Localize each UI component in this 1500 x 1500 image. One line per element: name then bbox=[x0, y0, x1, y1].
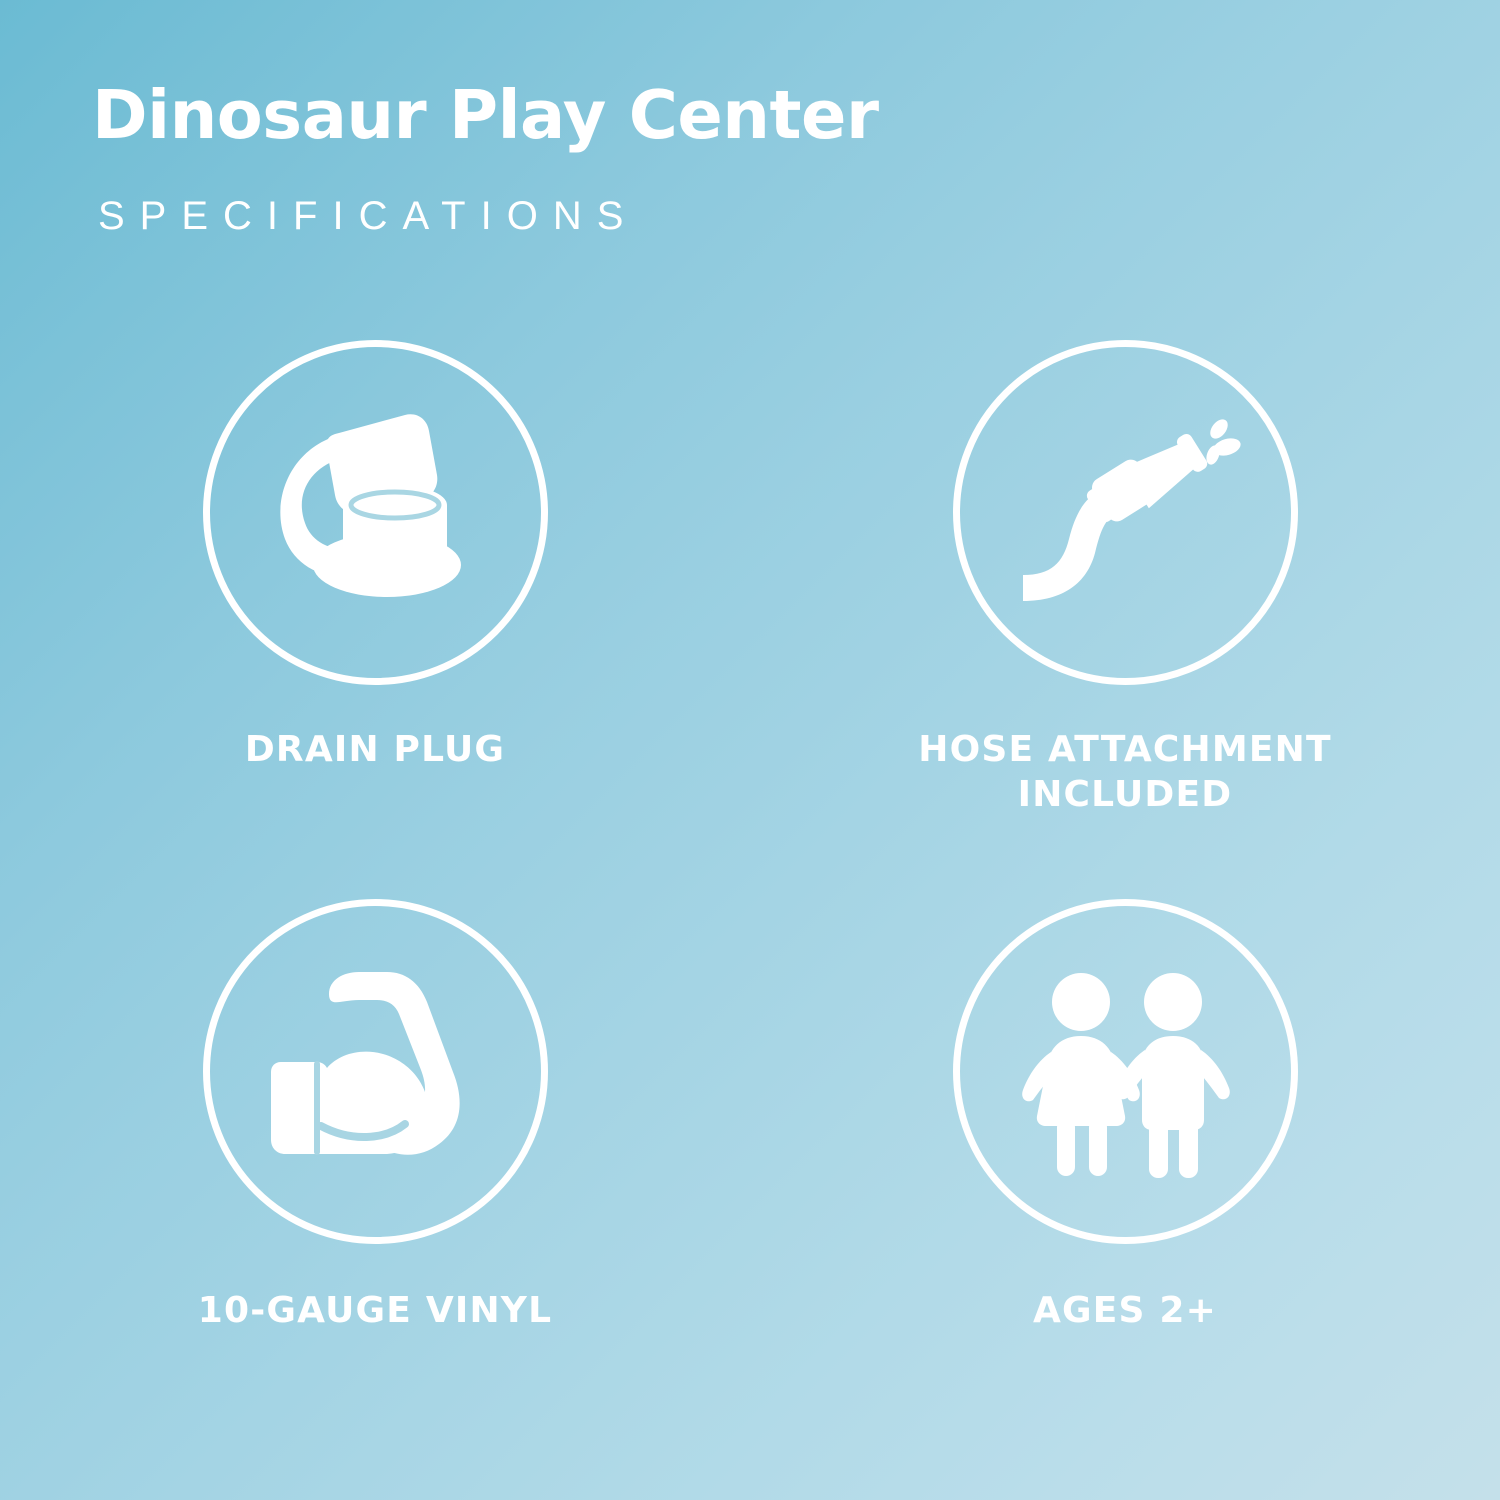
spec-row: DRAIN PLUG bbox=[0, 340, 1500, 817]
spec-row: 10-GAUGE VINYL bbox=[0, 899, 1500, 1333]
spec-label-line1: HOSE ATTACHMENT bbox=[918, 727, 1332, 772]
page-title: Dinosaur Play Center bbox=[92, 80, 1292, 150]
page-header: Dinosaur Play Center SPECIFICATIONS bbox=[92, 80, 1292, 236]
spec-label-line2: INCLUDED bbox=[918, 772, 1332, 817]
spec-label: HOSE ATTACHMENT INCLUDED bbox=[918, 727, 1332, 817]
spec-label: DRAIN PLUG bbox=[245, 727, 505, 772]
spec-item-hose-attachment: HOSE ATTACHMENT INCLUDED bbox=[750, 340, 1500, 817]
spec-icon-circle bbox=[203, 340, 548, 685]
specifications-page: Dinosaur Play Center SPECIFICATIONS bbox=[0, 0, 1500, 1500]
hose-nozzle-icon bbox=[1005, 393, 1245, 633]
spec-label: AGES 2+ bbox=[1033, 1288, 1217, 1333]
flexed-bicep-icon bbox=[255, 952, 495, 1192]
spec-item-age-rating: AGES 2+ bbox=[750, 899, 1500, 1333]
specifications-grid: DRAIN PLUG bbox=[0, 340, 1500, 1333]
spec-item-drain-plug: DRAIN PLUG bbox=[0, 340, 750, 817]
spec-item-vinyl-gauge: 10-GAUGE VINYL bbox=[0, 899, 750, 1333]
two-children-icon bbox=[1005, 952, 1245, 1192]
spec-icon-circle bbox=[953, 340, 1298, 685]
drain-plug-icon bbox=[255, 393, 495, 633]
spec-icon-circle bbox=[953, 899, 1298, 1244]
page-subtitle: SPECIFICATIONS bbox=[98, 196, 1292, 236]
spec-icon-circle bbox=[203, 899, 548, 1244]
spec-label: 10-GAUGE VINYL bbox=[198, 1288, 552, 1333]
